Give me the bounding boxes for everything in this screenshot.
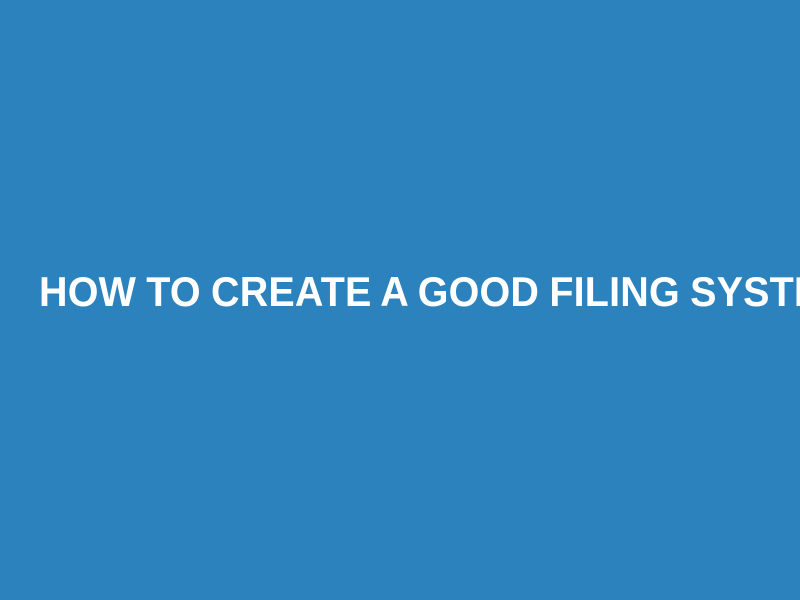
- page-title: HOW TO CREATE A GOOD FILING SYSTEM?: [24, 270, 776, 314]
- featured-image-card: HOW TO CREATE A GOOD FILING SYSTEM?: [0, 0, 800, 600]
